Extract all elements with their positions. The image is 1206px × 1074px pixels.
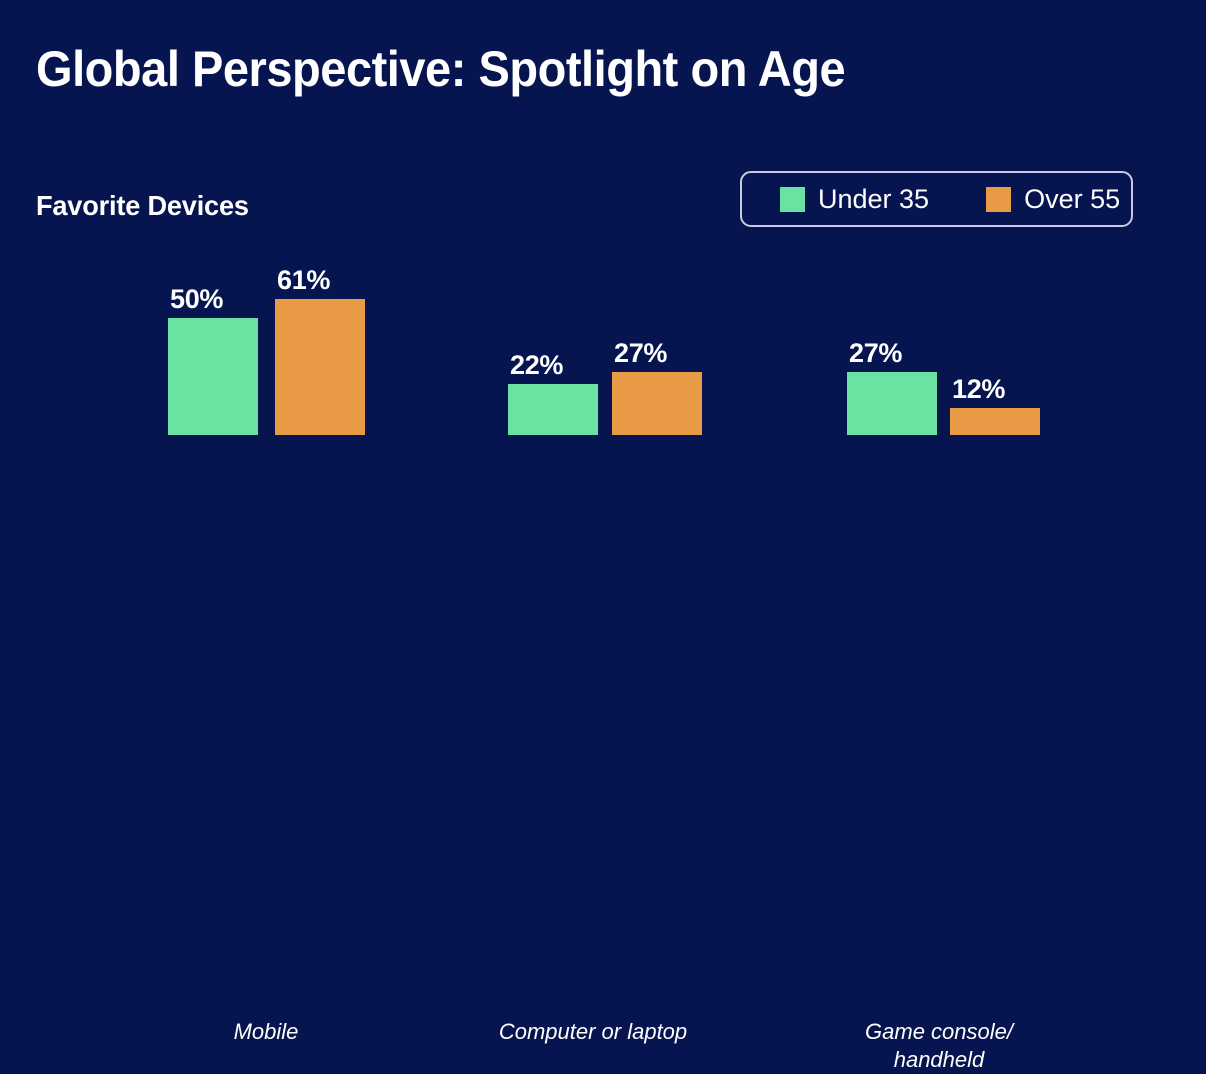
bar-rect-mobile-under-35 <box>168 318 258 435</box>
category-label-computer-or-laptop: Computer or laptop <box>475 1018 711 1046</box>
bar-value-game-console-under-35: 27% <box>849 340 902 367</box>
bar-rect-game-console-over-55 <box>950 408 1040 435</box>
bar-rect-game-console-under-35 <box>847 372 937 435</box>
bar-value-computer-over-55: 27% <box>614 340 667 367</box>
bar-chart-plot: 50% 61% Mobile 22% 27% Co <box>0 0 1206 571</box>
bar-value-mobile-over-55: 61% <box>277 267 330 294</box>
bar-value-mobile-under-35: 50% <box>170 286 223 313</box>
category-label-game-console-handheld: Game console/ handheld <box>821 1018 1057 1074</box>
slide-canvas: Global Perspective: Spotlight on Age Fav… <box>0 0 1206 571</box>
bar-rect-mobile-over-55 <box>275 299 365 435</box>
bar-value-game-console-over-55: 12% <box>952 376 1005 403</box>
bar-rect-computer-over-55 <box>612 372 702 435</box>
bar-rect-computer-under-35 <box>508 384 598 435</box>
bar-value-computer-under-35: 22% <box>510 352 563 379</box>
category-label-mobile: Mobile <box>148 1018 384 1046</box>
